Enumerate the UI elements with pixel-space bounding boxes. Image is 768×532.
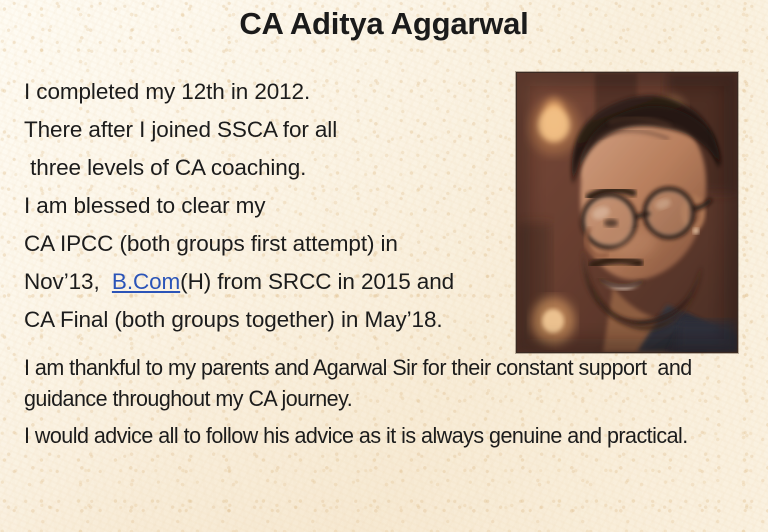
portrait-photo-image [517, 73, 737, 352]
bio-line-7: CA Final (both groups together) in May’1… [24, 301, 524, 339]
bio-line-1: I completed my 12th in 2012. [24, 73, 524, 111]
slide-canvas: CA Aditya Aggarwal [0, 0, 768, 532]
bio-line-2: There after I joined SSCA for all [24, 111, 524, 149]
bio-line-6-prefix: Nov’13, [24, 269, 112, 294]
biography-lines: I completed my 12th in 2012. There after… [24, 73, 524, 339]
bcom-hyperlink[interactable]: B.Com [112, 269, 180, 294]
portrait-photo [516, 72, 738, 353]
bio-line-6: Nov’13, B.Com(H) from SRCC in 2015 and [24, 263, 524, 301]
page-title: CA Aditya Aggarwal [0, 5, 768, 42]
bio-line-6-suffix: (H) from SRCC in 2015 and [180, 269, 454, 294]
bio-line-5: CA IPCC (both groups first attempt) in [24, 225, 524, 263]
bio-line-3: three levels of CA coaching. [24, 149, 524, 187]
recommendation-paragraph: I would advice all to follow his advice … [24, 420, 708, 451]
gratitude-paragraph: I am thankful to my parents and Agarwal … [24, 352, 708, 414]
bio-line-4: I am blessed to clear my [24, 187, 524, 225]
